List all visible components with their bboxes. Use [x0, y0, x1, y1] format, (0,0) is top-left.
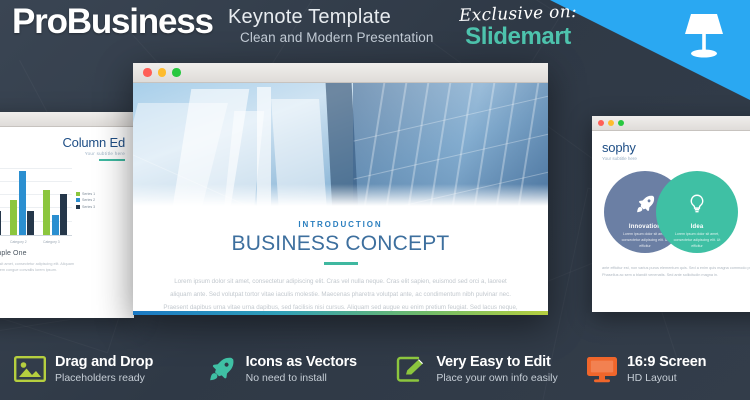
- feature-drag-and-drop: Drag and Drop Placeholders ready: [14, 353, 205, 385]
- close-button[interactable]: [598, 120, 604, 126]
- legend-swatch: [76, 198, 80, 202]
- slide-body-text: Lorem ipsum dolor sit amet, consectetur …: [163, 275, 518, 316]
- header: ProBusiness Keynote Template Clean and M…: [0, 0, 750, 62]
- skyscrapers-photo: [133, 83, 548, 206]
- chart-plot-area: 100 80 60 40 20 0 Category 1 Category 2: [0, 170, 72, 236]
- tagline-secondary: Clean and Modern Presentation: [240, 30, 434, 45]
- left-slide-title: Column Ed: [0, 135, 125, 150]
- legend-item: Series 1: [76, 192, 95, 196]
- chart-caption-heading: Chart Sample One: [0, 250, 125, 257]
- accent-gradient-bar: [133, 311, 548, 315]
- window-titlebar: [592, 116, 750, 131]
- legend-swatch: [76, 192, 80, 196]
- tagline-primary: Keynote Template: [228, 6, 434, 29]
- feature-text-group: Very Easy to Edit Place your own info ea…: [436, 354, 557, 384]
- feature-text-group: 16:9 Screen HD Layout: [627, 354, 706, 384]
- feature-text-group: Icons as Vectors No need to install: [246, 354, 357, 384]
- venn-circle-idea[interactable]: Idea Lorem ipsum dolor sit amet, consect…: [656, 171, 738, 253]
- rocket-icon: [634, 193, 656, 220]
- feature-subtitle: HD Layout: [627, 372, 706, 384]
- main-slide-content: INTRODUCTION BUSINESS CONCEPT Lorem ipsu…: [133, 206, 548, 315]
- minimize-button[interactable]: [608, 120, 614, 126]
- monitor-icon: [586, 353, 618, 385]
- feature-icons-as-vectors: Icons as Vectors No need to install: [205, 353, 396, 385]
- feature-subtitle: Place your own info easily: [436, 372, 557, 384]
- feature-16-9-screen: 16:9 Screen HD Layout: [586, 353, 736, 385]
- x-tick: Category 2: [10, 240, 27, 244]
- venn-label: Innovation: [629, 224, 661, 230]
- legend-swatch: [76, 205, 80, 209]
- image-placeholder-icon: [14, 353, 46, 385]
- left-slide-subtitle: Your subtitle here: [0, 151, 125, 156]
- right-slide-subtitle: Your subtitle here: [602, 156, 750, 161]
- exclusive-store-name: Slidemart: [438, 23, 598, 51]
- right-slide-footer: ante efficitur est, non varius purus ele…: [602, 265, 750, 279]
- venn-label: Idea: [691, 224, 704, 230]
- x-tick: Category 3: [43, 240, 60, 244]
- tagline-group: Keynote Template Clean and Modern Presen…: [228, 6, 434, 45]
- brand-title: ProBusiness: [12, 2, 213, 42]
- legend-item: Series 2: [76, 198, 95, 202]
- chart-caption: Chart Sample One Lorem ipsum dolor sit a…: [0, 250, 125, 274]
- exclusive-badge: Exclusive on: Slidemart: [438, 4, 598, 51]
- main-slide-window[interactable]: INTRODUCTION BUSINESS CONCEPT Lorem ipsu…: [133, 63, 548, 315]
- bar-chart: 100 80 60 40 20 0 Category 1 Category 2: [0, 170, 125, 236]
- legend-label: Series 3: [82, 205, 95, 209]
- window-titlebar: [0, 112, 134, 127]
- feature-title: Very Easy to Edit: [436, 354, 557, 371]
- maximize-button[interactable]: [618, 120, 624, 126]
- legend-label: Series 2: [82, 198, 95, 202]
- right-slide-title: sophy: [602, 140, 750, 155]
- feature-bar: Drag and Drop Placeholders ready Icons a…: [0, 338, 750, 400]
- feature-title: Drag and Drop: [55, 354, 153, 371]
- right-slide-window[interactable]: sophy Your subtitle here 5 Innovation Lo…: [592, 116, 750, 312]
- legend-item: Series 3: [76, 205, 95, 209]
- slide-title-rule: [324, 262, 358, 265]
- maximize-button[interactable]: [172, 68, 181, 77]
- pencil-edit-icon: [395, 353, 427, 385]
- left-slide-rule: [99, 159, 125, 161]
- feature-very-easy-to-edit: Very Easy to Edit Place your own info ea…: [395, 353, 586, 385]
- chart-legend: Series 1 Series 2 Series 3: [76, 192, 95, 236]
- chart-caption-body: Lorem ipsum dolor sit amet, consectetur …: [0, 261, 89, 274]
- close-button[interactable]: [143, 68, 152, 77]
- slide-kicker: INTRODUCTION: [163, 220, 518, 229]
- lightbulb-icon: [686, 193, 708, 220]
- minimize-button[interactable]: [158, 68, 167, 77]
- feature-subtitle: No need to install: [246, 372, 357, 384]
- venn-text: Lorem ipsum dolor sit amet, consectetur …: [671, 232, 723, 250]
- feature-subtitle: Placeholders ready: [55, 372, 153, 384]
- rocket-icon: [205, 353, 237, 385]
- feature-text-group: Drag and Drop Placeholders ready: [55, 354, 153, 384]
- feature-title: Icons as Vectors: [246, 354, 357, 371]
- window-titlebar: [133, 63, 548, 83]
- feature-title: 16:9 Screen: [627, 354, 706, 371]
- slide-title: BUSINESS CONCEPT: [163, 232, 518, 256]
- left-slide-window[interactable]: Column Ed Your subtitle here 100 80 60 4…: [0, 112, 134, 318]
- venn-diagram: Innovation Lorem ipsum dolor sit amet, c…: [602, 171, 750, 257]
- legend-label: Series 1: [82, 192, 95, 196]
